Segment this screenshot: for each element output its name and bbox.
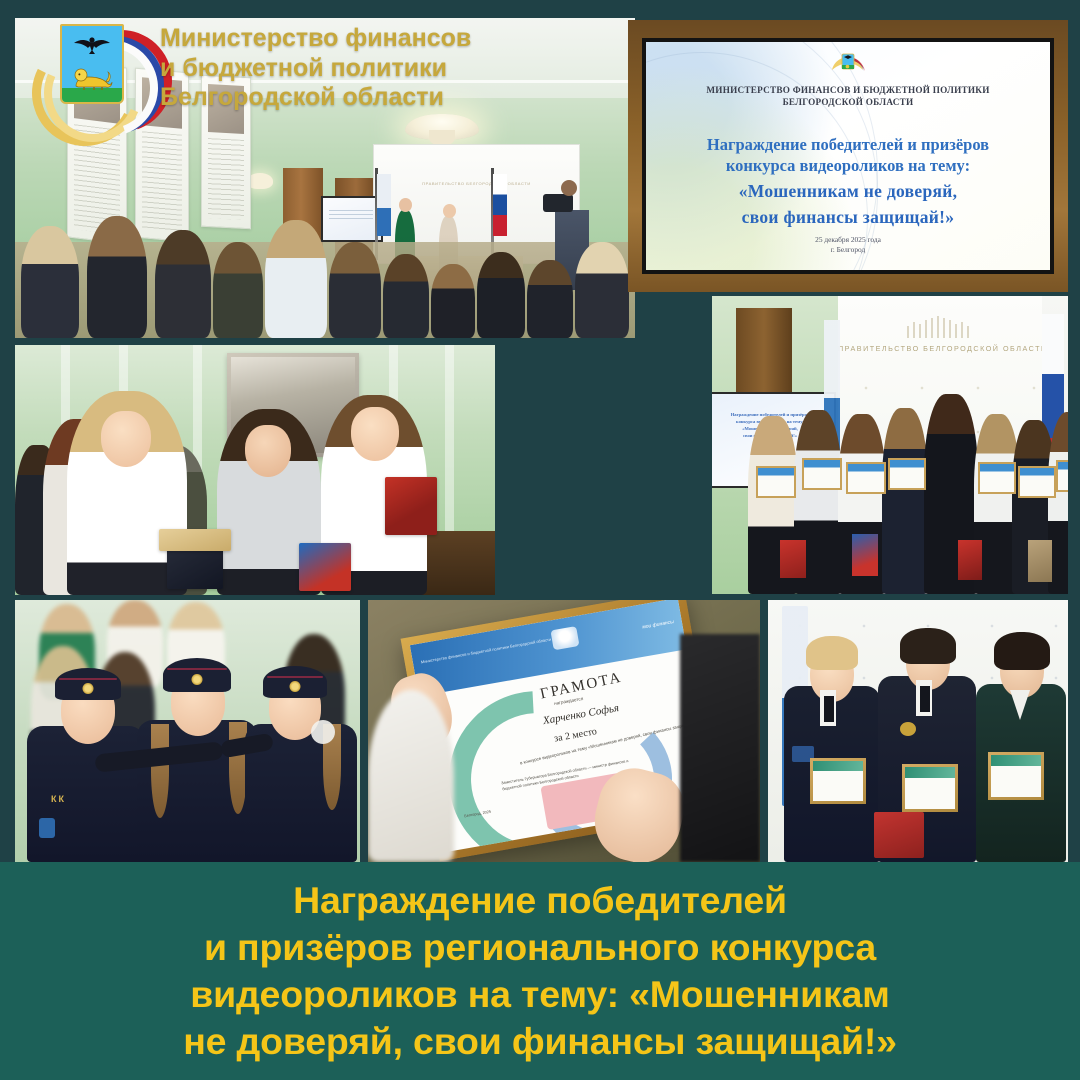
slide-date: 25 декабря 2025 года (646, 235, 1050, 246)
awardee (882, 408, 928, 594)
gift-bag (780, 540, 806, 578)
slide-emblem-icon (828, 53, 868, 79)
screen-bezel: МИНИСТЕРСТВО ФИНАНСОВ И БЮДЖЕТНОЙ ПОЛИТИ… (642, 38, 1054, 274)
shield-grass (62, 88, 122, 102)
certificate-in-frame (1056, 460, 1068, 492)
government-banner-text: ПРАВИТЕЛЬСТВО БЕЛГОРОДСКОЙ ОБЛАСТИ (838, 344, 1042, 353)
certificate-in-frame (988, 752, 1044, 800)
poster-caption: Награждение победителей и призёров регио… (0, 862, 1080, 1080)
cadet (245, 652, 357, 862)
certificate-closeup-photo: Министерство финансов и бюджетной полити… (368, 600, 760, 862)
certificate-ministry-text: Министерство финансов и бюджетной полити… (420, 637, 551, 665)
participants-with-gifts-photo (15, 345, 495, 595)
blurred-person (680, 634, 760, 862)
presentation-screen-photo: МИНИСТЕРСТВО ФИНАНСОВ И БЮДЖЕТНОЙ ПОЛИТИ… (628, 20, 1068, 292)
slide-title-line-1: Награждение победителей и призёров (654, 134, 1042, 155)
gift-box (385, 477, 437, 535)
group-award-photo: ПРАВИТЕЛЬСТВО БЕЛГОРОДСКОЙ ОБЛАСТИ Награ… (712, 296, 1068, 594)
certificate-in-frame (802, 458, 842, 490)
poster-root: ПРАВИТЕЛЬСТВО БЕЛГОРОДСКОЙ ОБЛАСТИ (0, 0, 1080, 1080)
officers-award-photo (768, 600, 1068, 862)
caption-text: Награждение победителей и призёров регио… (40, 877, 1040, 1066)
coat-of-arms-shield (60, 24, 124, 104)
lion-icon (72, 64, 114, 90)
officer-police (784, 630, 880, 862)
caption-line-4: не доверяй, свои финансы защищай!» (40, 1018, 1040, 1065)
officer-civilian (976, 628, 1066, 862)
gift-bag (159, 529, 231, 551)
certificate-in-frame (978, 462, 1016, 494)
header-title-line-3: Белгородской области (160, 83, 490, 113)
slide-title-line-4: свои финансы защищай!» (654, 206, 1042, 229)
certificate-in-frame (1018, 466, 1056, 498)
header-title: Министерство финансов и бюджетной полити… (160, 24, 490, 113)
slide-ministry-line-2: БЕЛГОРОДСКОЙ ОБЛАСТИ (646, 96, 1050, 108)
eagle-icon (72, 34, 112, 56)
slide-city: г. Белгород (646, 245, 1050, 256)
slide-ministry-text: МИНИСТЕРСТВО ФИНАНСОВ И БЮДЖЕТНОЙ ПОЛИТИ… (646, 84, 1050, 108)
gift-bag (852, 534, 878, 576)
gift-box (299, 543, 351, 591)
poster-header: Министерство финансов и бюджетной полити… (0, 0, 560, 130)
gift-bag (1028, 540, 1052, 582)
header-title-line-1: Министерство финансов (160, 24, 490, 54)
slide-title-line-2: конкурса видеороликов на тему: (654, 155, 1042, 176)
certificate-brand-text: мои финансы (642, 619, 674, 630)
certificate-in-frame (756, 466, 796, 498)
header-title-line-2: и бюджетной политики (160, 54, 490, 84)
caption-line-3: видеороликов на тему: «Мошенникам (40, 971, 1040, 1018)
caption-line-1: Награждение победителей (40, 877, 1040, 924)
certificate-in-frame (888, 458, 926, 490)
caption-line-2: и призёров регионального конкурса (40, 924, 1040, 971)
cadets-photo: КК (15, 600, 360, 862)
hall-banner-text: ПРАВИТЕЛЬСТВО БЕЛГОРОДСКОЙ ОБЛАСТИ (374, 181, 579, 186)
gift-bag (958, 540, 982, 580)
audience-heads (15, 198, 635, 338)
slide-ministry-line-1: МИНИСТЕРСТВО ФИНАНСОВ И БЮДЖЕТНОЙ ПОЛИТИ… (646, 84, 1050, 96)
slide-footer: 25 декабря 2025 года г. Белгород (646, 235, 1050, 256)
certificate-emblem-icon (551, 626, 580, 650)
certificate-in-frame (902, 764, 958, 812)
slide-title: Награждение победителей и призёров конку… (654, 134, 1042, 228)
slide-title-line-3: «Мошенникам не доверяй, (654, 180, 1042, 203)
presentation-slide: МИНИСТЕРСТВО ФИНАНСОВ И БЮДЖЕТНОЙ ПОЛИТИ… (646, 42, 1050, 270)
certificate-in-frame (810, 758, 866, 804)
gift-bag (874, 812, 924, 858)
certificate-in-frame (846, 462, 886, 494)
blurred-shoulder (368, 690, 454, 862)
government-building-icon (907, 312, 973, 338)
belgorod-coat-of-arms (28, 14, 154, 132)
